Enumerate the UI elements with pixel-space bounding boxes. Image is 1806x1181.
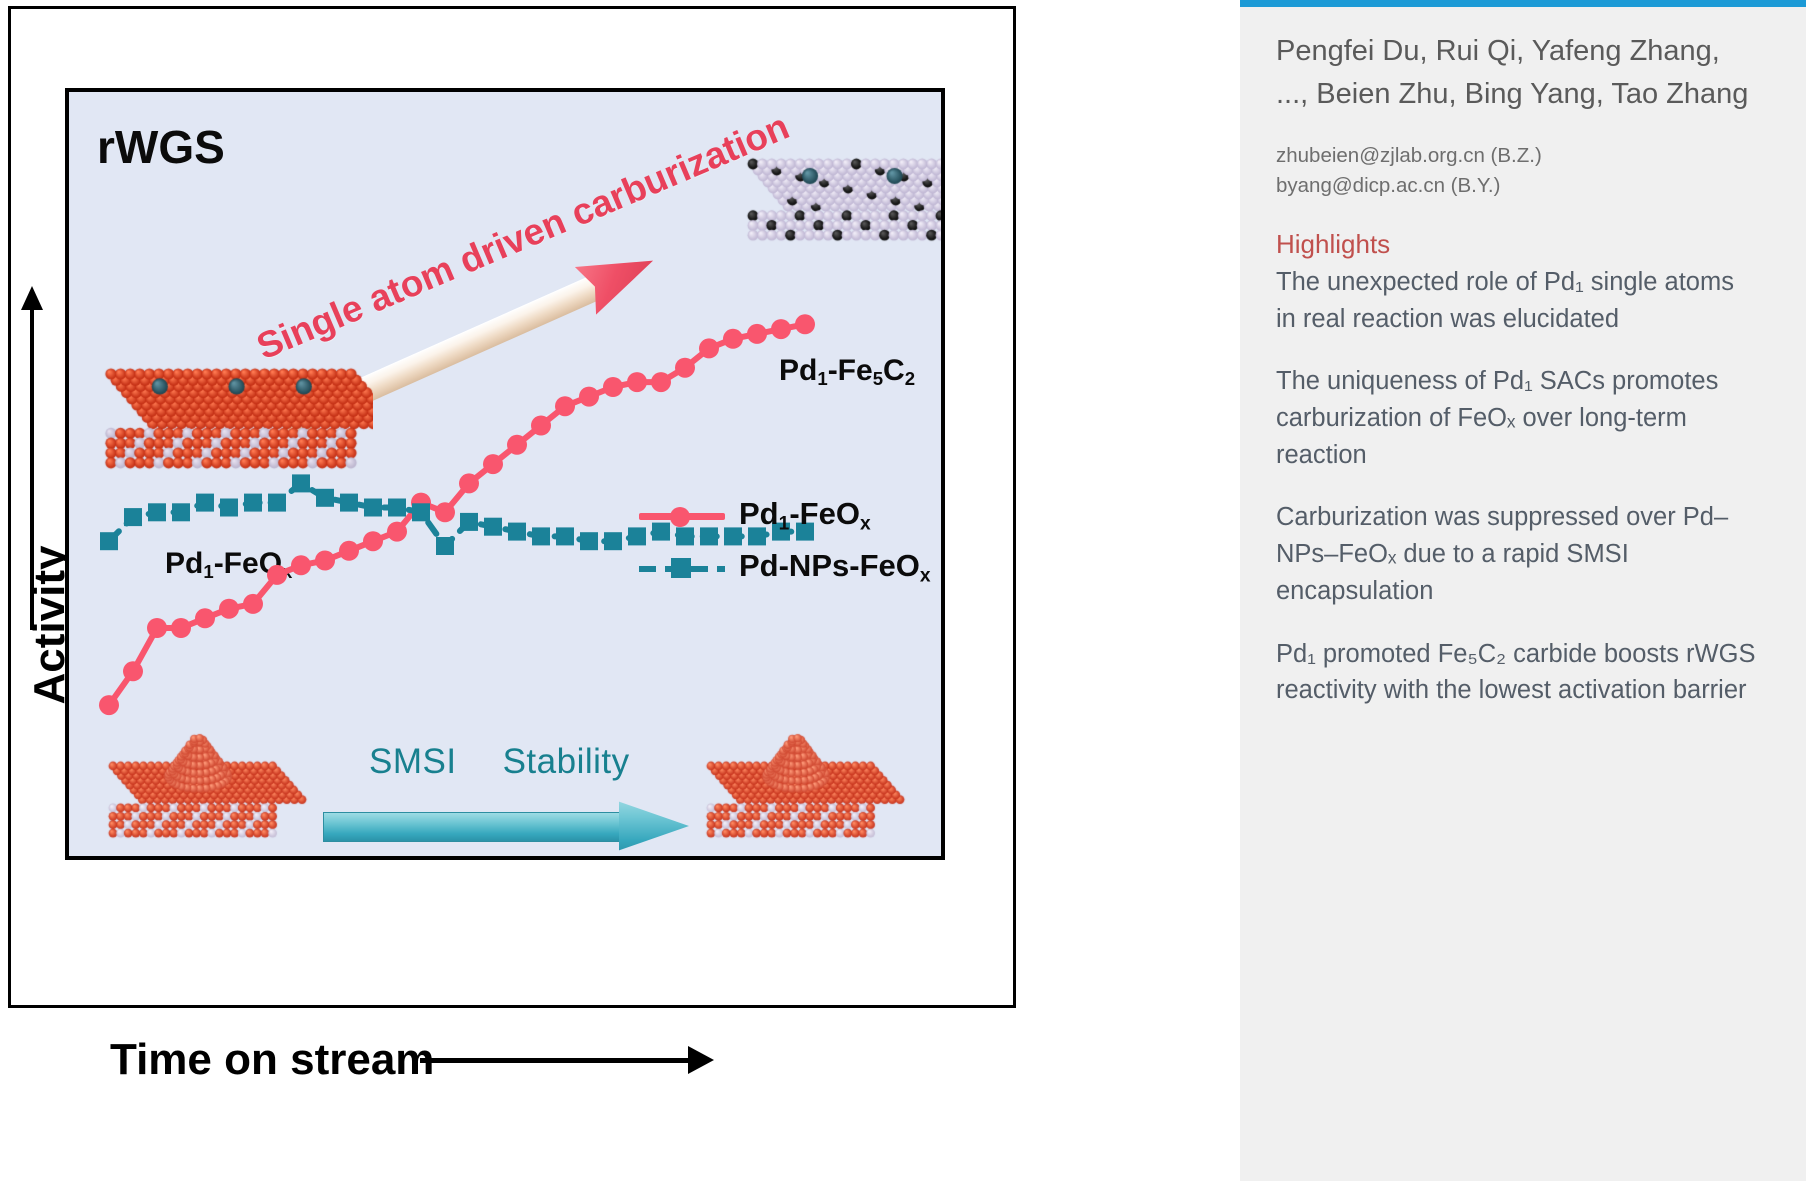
legend-item-pd-nps-feox: Pd-NPs-FeOx	[639, 542, 931, 594]
plot-area: rWGS Single atom driven carburization Pd…	[65, 88, 945, 860]
x-axis-label: Time on stream	[110, 1035, 434, 1085]
legend-label-pd1-feox: Pd1-FeOx	[739, 496, 871, 535]
y-axis-arrowhead-icon	[21, 286, 43, 310]
smsi-stability-label: SMSIStability	[369, 742, 630, 782]
x-axis-arrowhead-icon	[688, 1046, 714, 1074]
accent-bar	[1240, 0, 1806, 7]
figure-panel: Activity Time on stream rWGS Single atom…	[0, 0, 1030, 1181]
smsi-label: SMSI	[369, 742, 457, 781]
legend-label-pd-nps-feox: Pd-NPs-FeOx	[739, 548, 931, 587]
legend-swatch-red	[639, 504, 725, 528]
correspondence-emails: zhubeien@zjlab.org.cn (B.Z.) byang@dicp.…	[1276, 141, 1756, 200]
legend-swatch-teal	[639, 556, 725, 580]
chart-legend: Pd1-FeOx Pd-NPs-FeOx	[639, 490, 931, 594]
legend-item-pd1-feox: Pd1-FeOx	[639, 490, 931, 542]
graphical-abstract-page: Activity Time on stream rWGS Single atom…	[0, 0, 1806, 1181]
legend-square-marker-icon	[671, 558, 691, 578]
smsi-arrow-shaft	[323, 812, 623, 842]
smsi-arrow-icon	[323, 798, 689, 854]
sidebar-content: Pengfei Du, Rui Qi, Yafeng Zhang, ..., B…	[1276, 30, 1756, 735]
email-line-2[interactable]: byang@dicp.ac.cn (B.Y.)	[1276, 171, 1756, 201]
x-axis-line	[420, 1058, 695, 1063]
stability-label: Stability	[503, 742, 630, 781]
sidebar-panel: Pengfei Du, Rui Qi, Yafeng Zhang, ..., B…	[1240, 0, 1806, 1181]
highlight-item-4: Pd₁ promoted Fe₅C₂ carbide boosts rWGS r…	[1276, 636, 1756, 709]
legend-circle-marker-icon	[670, 507, 690, 527]
smsi-arrow-head	[619, 797, 689, 855]
highlights-heading: Highlights	[1276, 227, 1756, 262]
author-list: Pengfei Du, Rui Qi, Yafeng Zhang, ..., B…	[1276, 30, 1756, 115]
email-line-1[interactable]: zhubeien@zjlab.org.cn (B.Z.)	[1276, 141, 1756, 171]
highlight-item-2: The uniqueness of Pd₁ SACs promotes carb…	[1276, 363, 1756, 473]
highlight-item-1: The unexpected role of Pd₁ single atoms …	[1276, 264, 1756, 337]
highlight-item-3: Carburization was suppressed over Pd–NPs…	[1276, 499, 1756, 609]
